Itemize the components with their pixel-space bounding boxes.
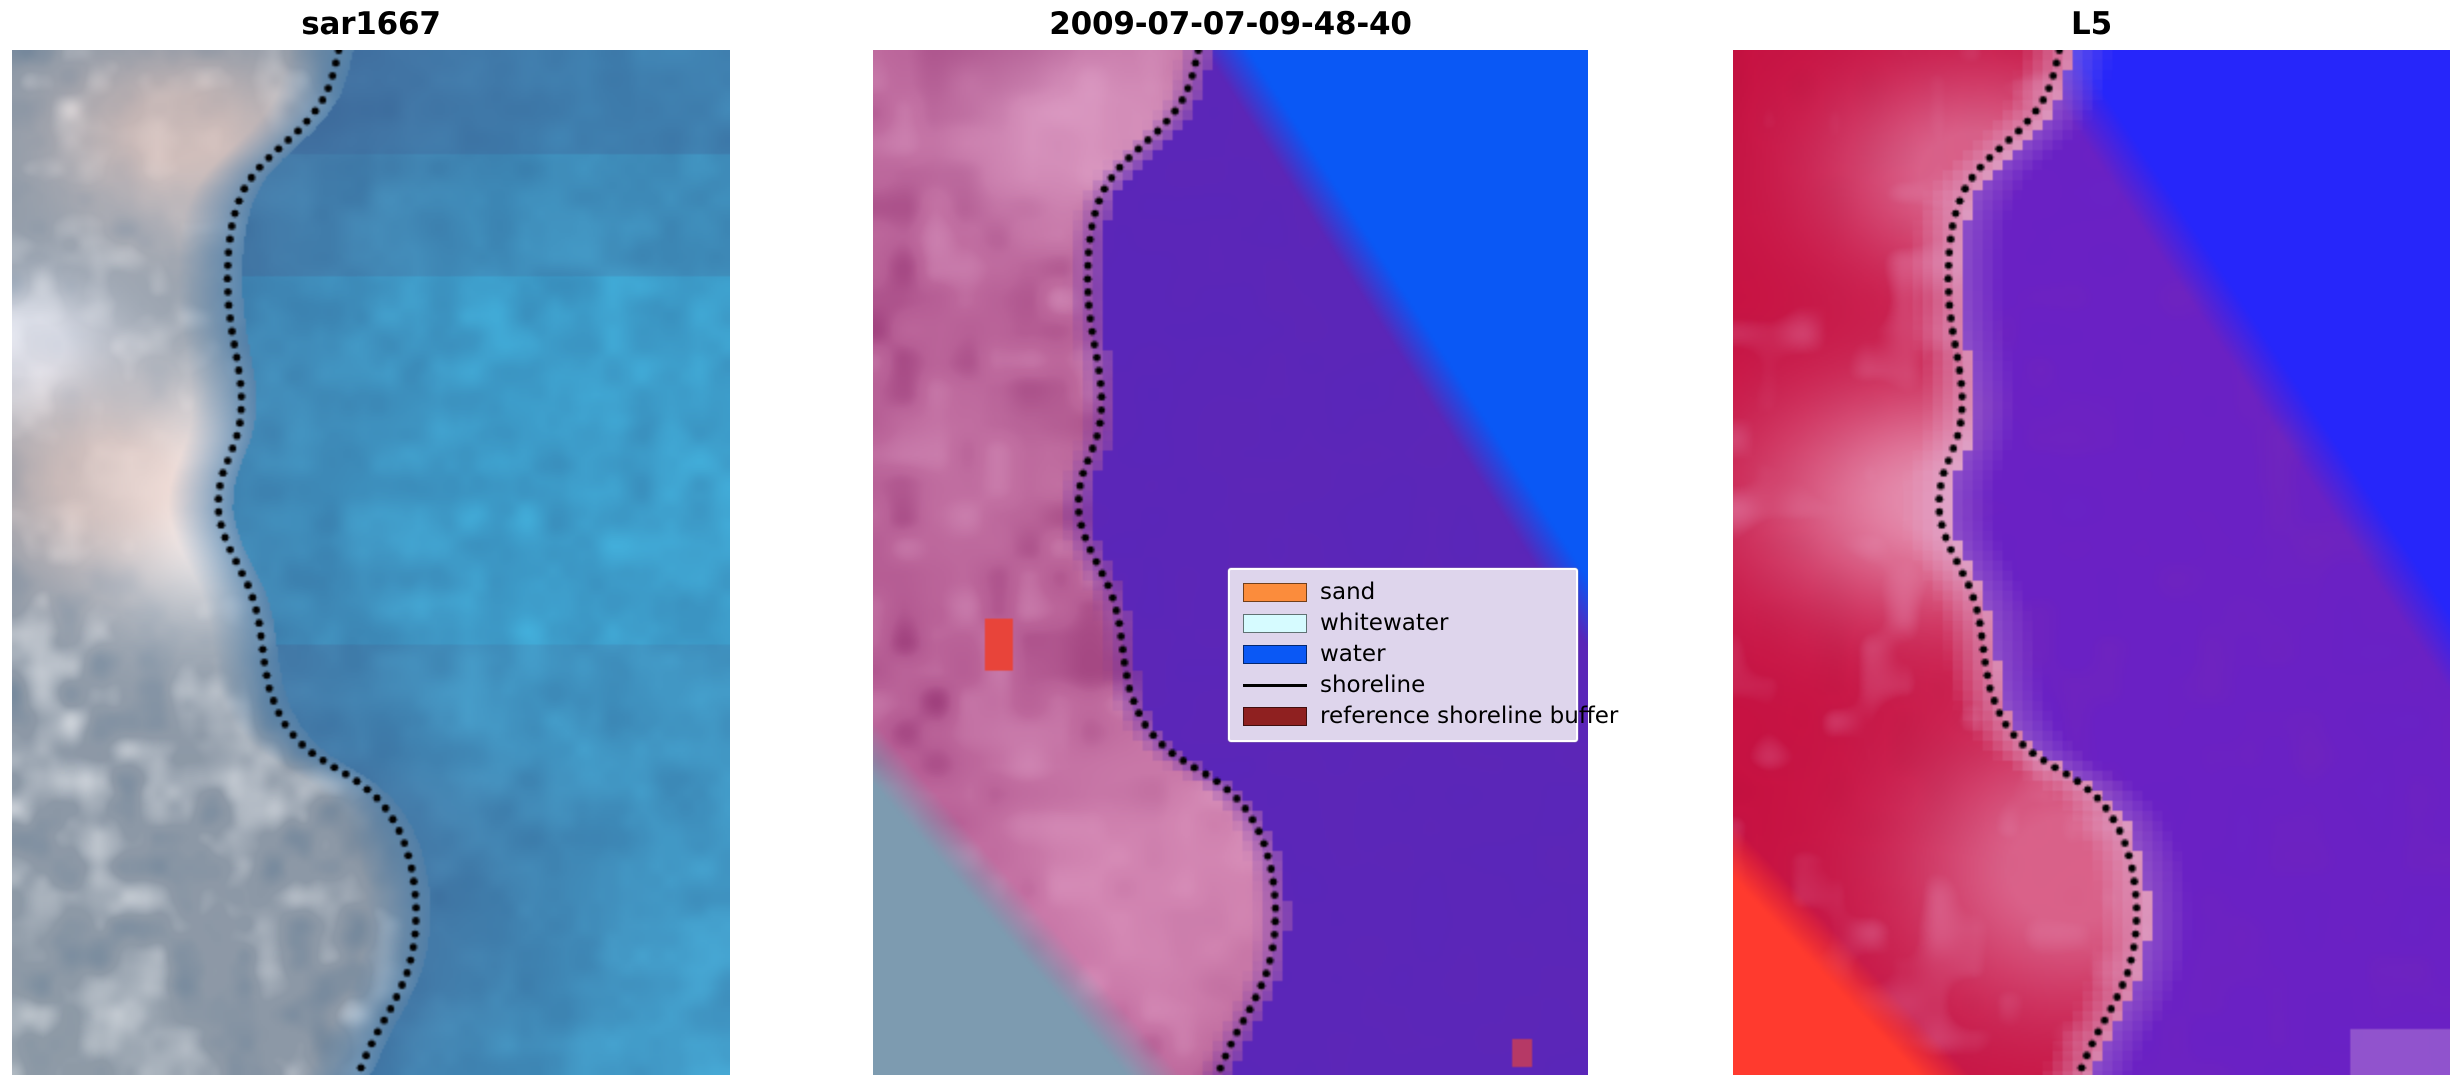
l5-image-panel[interactable]: [1733, 50, 2450, 1075]
sar-image-panel[interactable]: [12, 50, 730, 1075]
shoreline-line-swatch: [1243, 676, 1307, 695]
legend-item-shoreline: shoreline: [1238, 670, 1568, 701]
classified-image-panel[interactable]: [873, 50, 1588, 1075]
panel-title-sar: sar1667: [12, 4, 730, 44]
legend-label-shoreline: shoreline: [1320, 673, 1425, 698]
water-color-swatch: [1243, 645, 1307, 664]
legend-label-whitewater: whitewater: [1320, 611, 1448, 636]
legend-item-sand: sand: [1238, 577, 1568, 608]
reference-shoreline-buffer-color-swatch: [1243, 707, 1307, 726]
legend-label-reference-shoreline-buffer: reference shoreline buffer: [1320, 704, 1618, 729]
legend-label-water: water: [1320, 642, 1386, 667]
legend-label-sand: sand: [1320, 580, 1375, 605]
sar-canvas: [12, 50, 730, 1075]
panel-title-l5: L5: [1733, 4, 2450, 44]
map-legend: sand whitewater water shoreline referenc…: [1228, 568, 1578, 742]
whitewater-color-swatch: [1243, 614, 1307, 633]
classified-canvas: [873, 50, 1588, 1075]
legend-item-whitewater: whitewater: [1238, 608, 1568, 639]
shoreline-comparison-figure: sar1667 2009-07-07-09-48-40 L5 sand whit…: [0, 0, 2460, 1089]
sand-color-swatch: [1243, 583, 1307, 602]
panel-title-classified: 2009-07-07-09-48-40: [873, 4, 1588, 44]
legend-item-water: water: [1238, 639, 1568, 670]
legend-item-reference-shoreline-buffer: reference shoreline buffer: [1238, 701, 1568, 732]
l5-canvas: [1733, 50, 2450, 1075]
